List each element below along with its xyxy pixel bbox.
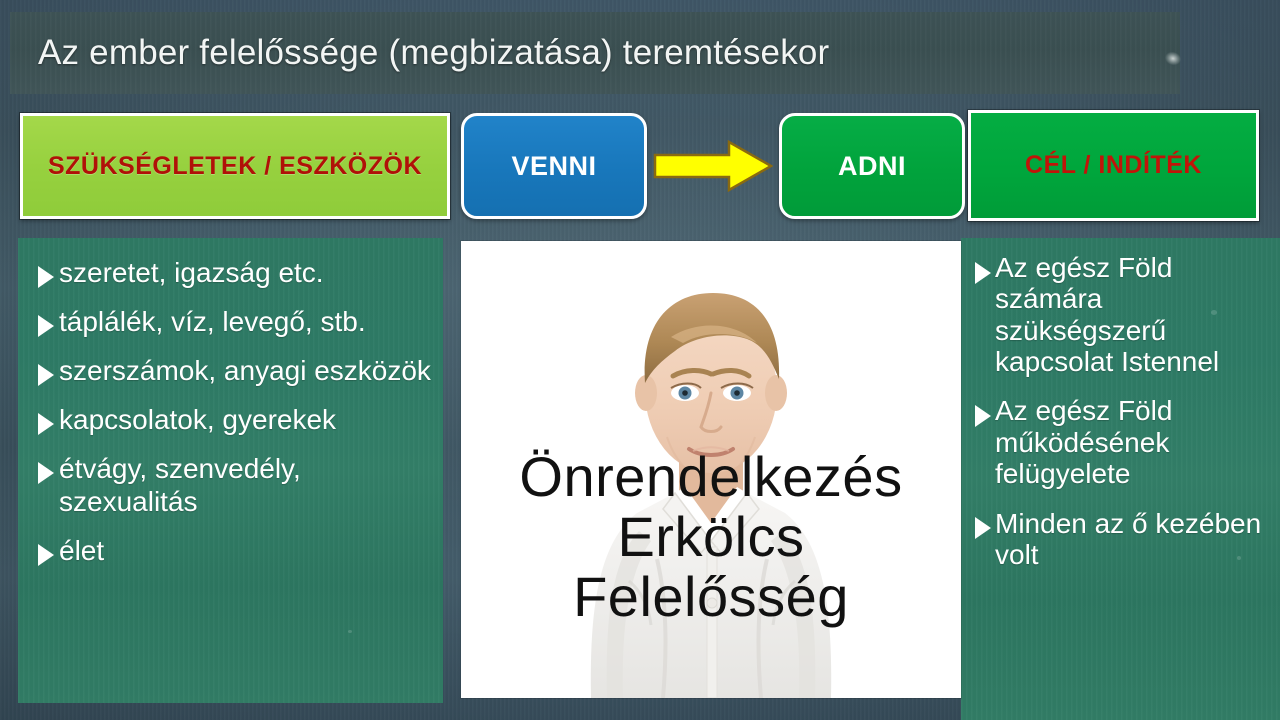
triangle-bullet-icon (38, 544, 54, 566)
list-item-label: táplálék, víz, levegő, stb. (58, 305, 366, 338)
triangle-bullet-icon (38, 462, 54, 484)
take-box[interactable]: VENNI (461, 113, 647, 219)
list-item: Az egész Föld számára szükségszerű kapcs… (975, 252, 1274, 377)
give-box-label: ADNI (838, 153, 906, 180)
right-bullet-list: Az egész Föld számára szükségszerű kapcs… (961, 238, 1280, 570)
center-photo: Önrendelkezés Erkölcs Felelősség (461, 241, 961, 698)
list-item-label: Minden az ő kezében volt (995, 508, 1274, 571)
list-item-label: Az egész Föld működésének felügyelete (995, 395, 1274, 489)
list-item: szerszámok, anyagi eszközök (38, 354, 433, 387)
list-item-label: szeretet, igazság etc. (58, 256, 324, 289)
triangle-bullet-icon (38, 364, 54, 386)
triangle-bullet-icon (975, 405, 991, 427)
list-item: étvágy, szenvedély, szexualitás (38, 452, 433, 518)
goal-box[interactable]: CÉL / INDÍTÉK (968, 110, 1259, 221)
left-content-panel: szeretet, igazság etc. táplálék, víz, le… (18, 238, 443, 703)
list-item-label: étvágy, szenvedély, szexualitás (58, 452, 433, 518)
chalk-speck-icon (348, 630, 352, 633)
triangle-bullet-icon (975, 517, 991, 539)
goal-box-label: CÉL / INDÍTÉK (1025, 153, 1202, 178)
triangle-bullet-icon (975, 262, 991, 284)
left-bullet-list: szeretet, igazság etc. táplálék, víz, le… (18, 238, 443, 567)
needs-box-label: SZÜKSÉGLETEK / ESZKÖZÖK (48, 154, 422, 179)
slide-canvas: Az ember felelőssége (megbizatása) terem… (0, 0, 1280, 720)
list-item: táplálék, víz, levegő, stb. (38, 305, 433, 338)
list-item-label: kapcsolatok, gyerekek (58, 403, 336, 436)
give-box[interactable]: ADNI (779, 113, 965, 219)
triangle-bullet-icon (38, 266, 54, 288)
title-band: Az ember felelőssége (megbizatása) terem… (10, 12, 1180, 94)
triangle-bullet-icon (38, 315, 54, 337)
take-box-label: VENNI (511, 153, 596, 180)
list-item: Az egész Föld működésének felügyelete (975, 395, 1274, 489)
right-content-panel: Az egész Föld számára szükségszerű kapcs… (961, 238, 1280, 720)
list-item: élet (38, 534, 433, 567)
list-item-label: Az egész Föld számára szükségszerű kapcs… (995, 252, 1274, 377)
arrow-right-icon (653, 140, 773, 192)
page-title: Az ember felelőssége (megbizatása) terem… (10, 33, 829, 73)
caption-line-3: Felelősség (461, 567, 961, 627)
list-item: kapcsolatok, gyerekek (38, 403, 433, 436)
caption-line-1: Önrendelkezés (461, 447, 961, 507)
photo-caption: Önrendelkezés Erkölcs Felelősség (461, 447, 961, 627)
triangle-bullet-icon (38, 413, 54, 435)
caption-line-2: Erkölcs (461, 507, 961, 567)
list-item: szeretet, igazság etc. (38, 256, 433, 289)
list-item-label: szerszámok, anyagi eszközök (58, 354, 431, 387)
list-item-label: élet (58, 534, 104, 567)
list-item: Minden az ő kezében volt (975, 508, 1274, 571)
needs-box[interactable]: SZÜKSÉGLETEK / ESZKÖZÖK (20, 113, 450, 219)
